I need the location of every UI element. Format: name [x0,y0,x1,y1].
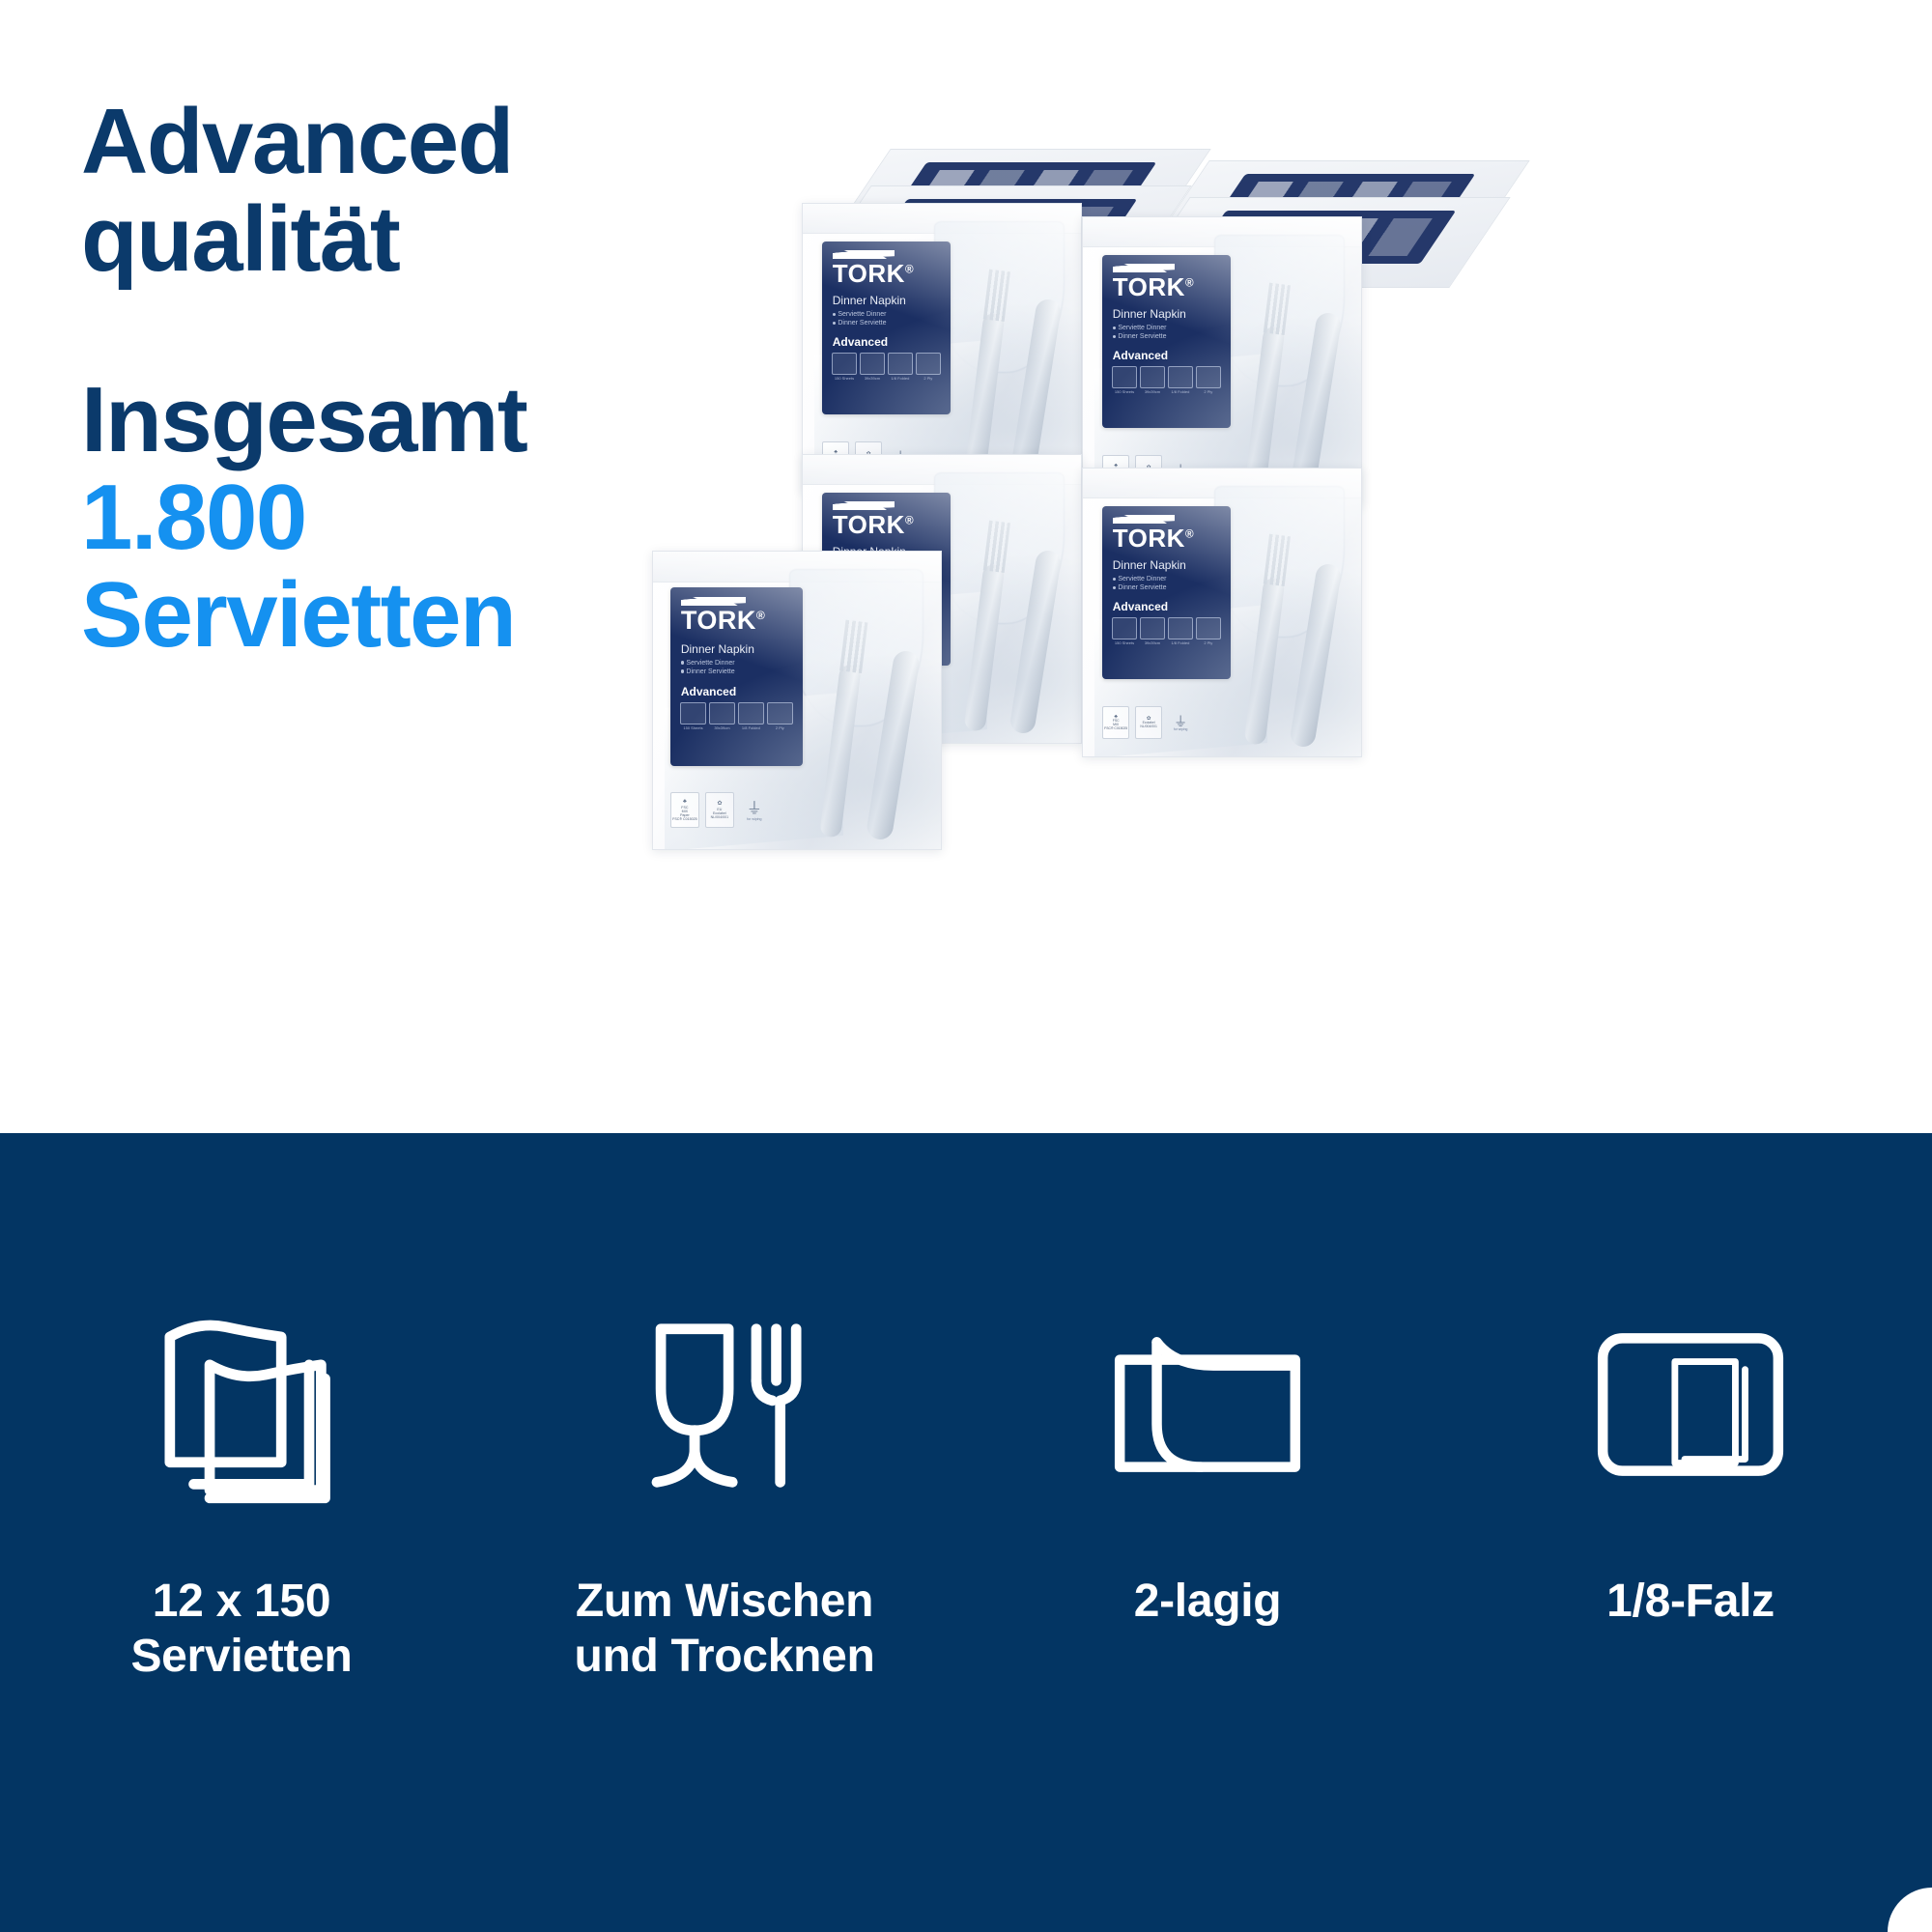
spec-icon-row: 150 Sheets 39x39cm 1/8 Folded [1113,366,1220,393]
tork-wave-icon [1113,264,1176,272]
spec-ply-icon: 2 Ply [1197,366,1221,393]
pack-bag: TORK® Dinner Napkin Serviette Dinner Din… [1082,216,1362,506]
eu-ecolabel-badge: ✿ EU Ecolabel NL/004/001 [705,792,734,828]
fsc-badge: ♣ FSC MIX FSC® C015025 [1102,706,1129,739]
fsc-badge: ♣ FSC MIX Paper FSC® C015025 [670,792,699,828]
feature-item-fold: 1/8-Falz [1449,1303,1932,1684]
corner-notch [1888,1888,1932,1932]
brand-name: TORK® [1113,526,1220,551]
eighth-fold-icon [1583,1303,1798,1506]
product-label: TORK® Dinner Napkin Serviette Dinner Din… [822,241,950,414]
spec-size-icon: 39x39cm [1141,366,1165,393]
napkin-stack-icon [142,1303,341,1506]
product-title: Dinner Napkin [681,642,792,656]
product-marketing-image: Advanced qualität Insgesamt 1.800 Servie… [0,0,1932,1932]
glass-fork-mark: ⏚ [1174,715,1187,728]
feature-label-quantity: 12 x 150 Servietten [130,1574,352,1684]
brand-name: TORK® [833,261,940,286]
product-sub-2: Dinner Serviette [681,668,792,675]
product-sub-2: Dinner Serviette [1113,584,1220,591]
feature-list: 12 x 150 Servietten Zum Wischen und Tro [0,1303,1932,1684]
product-sub-1: Serviette Dinner [1113,576,1220,582]
food-contact-badge: ⏚ for wiping [1168,708,1193,739]
feature-item-wiping: Zum Wischen und Trocknen [483,1303,966,1684]
product-label: TORK® Dinner Napkin Serviette Dinner Din… [670,587,803,766]
brand-name: TORK® [681,608,792,634]
glass-fork-icon [625,1303,824,1506]
product-title: Dinner Napkin [833,294,940,307]
spec-fold-icon: 1/8 Folded [739,702,763,730]
product-photo: TORK® Dinner Napkin Serviette Dinner Din… [618,135,1913,889]
spec-icon-row: 150 Sheets 39x39cm 1/8 Folded [681,702,792,730]
spec-sheets-icon: 150 Sheets [1113,366,1137,393]
spec-icon-row: 150 Sheets 39x39cm 1/8 Folded [1113,617,1220,644]
product-sub-1: Serviette Dinner [1113,325,1220,331]
brand-name: TORK® [1113,274,1220,299]
spec-size-icon: 39x39cm [710,702,734,730]
product-quality: Advanced [681,685,792,698]
eu-ecolabel-badge: ✿ Ecolabel NL/004/001 [1135,706,1162,739]
product-sub-2: Dinner Serviette [833,320,940,327]
product-quality: Advanced [833,335,940,349]
feature-item-quantity: 12 x 150 Servietten [0,1303,483,1684]
spec-fold-icon: 1/8 Folded [1169,366,1193,393]
spec-ply-icon: 2 Ply [768,702,792,730]
product-quality: Advanced [1113,349,1220,362]
hero-section: Advanced qualität Insgesamt 1.800 Servie… [0,0,1932,1133]
product-label: TORK® Dinner Napkin Serviette Dinner Din… [1102,506,1230,679]
product-label: TORK® Dinner Napkin Serviette Dinner Din… [1102,255,1230,428]
feature-band: 12 x 150 Servietten Zum Wischen und Tro [0,1133,1932,1932]
spec-ply-icon: 2 Ply [917,353,941,380]
tork-wave-icon [833,250,895,259]
feature-label-ply: 2-lagig [1134,1574,1282,1629]
glass-fork-mark: ⏚ [747,802,762,817]
feature-item-ply: 2-lagig [966,1303,1449,1684]
product-sub-2: Dinner Serviette [1113,333,1220,340]
tork-wave-icon [833,501,895,510]
spec-icon-row: 150 Sheets 39x39cm 1/8 Folded [833,353,940,380]
product-quality: Advanced [1113,600,1220,613]
tork-wave-icon [681,597,746,606]
spec-ply-icon: 2 Ply [1197,617,1221,644]
tork-wave-icon [1113,515,1176,524]
spec-size-icon: 39x39cm [861,353,885,380]
pack-lower-right: TORK® Dinner Napkin Serviette Dinner Din… [1082,468,1362,757]
pack-bag: TORK® Dinner Napkin Serviette Dinner Din… [1082,468,1362,757]
spec-size-icon: 39x39cm [1141,617,1165,644]
pack-front: TORK® Dinner Napkin Serviette Dinner Din… [652,551,942,850]
product-title: Dinner Napkin [1113,558,1220,572]
brand-name: TORK® [833,512,940,537]
certification-row: ♣ FSC MIX Paper FSC® C015025 ✿ EU Ecolab… [670,792,769,828]
feature-label-fold: 1/8-Falz [1606,1574,1775,1629]
pack-bag: TORK® Dinner Napkin Serviette Dinner Din… [802,203,1082,493]
pack-upper-left: TORK® Dinner Napkin Serviette Dinner Din… [802,203,1082,493]
spec-sheets-icon: 150 Sheets [681,702,705,730]
spec-sheets-icon: 150 Sheets [1113,617,1137,644]
pack-upper-right: TORK® Dinner Napkin Serviette Dinner Din… [1082,216,1362,506]
feature-label-wiping: Zum Wischen und Trocknen [574,1574,874,1684]
certification-row: ♣ FSC MIX FSC® C015025 ✿ Ecolabel NL/004… [1102,706,1193,739]
spec-sheets-icon: 150 Sheets [833,353,857,380]
spec-fold-icon: 1/8 Folded [1169,617,1193,644]
product-sub-1: Serviette Dinner [833,311,940,318]
spec-fold-icon: 1/8 Folded [889,353,913,380]
product-title: Dinner Napkin [1113,307,1220,321]
two-ply-napkin-icon [1100,1303,1315,1506]
food-contact-badge: ⏚ for wiping [740,794,769,828]
product-sub-1: Serviette Dinner [681,660,792,667]
pack-bag: TORK® Dinner Napkin Serviette Dinner Din… [652,551,942,850]
